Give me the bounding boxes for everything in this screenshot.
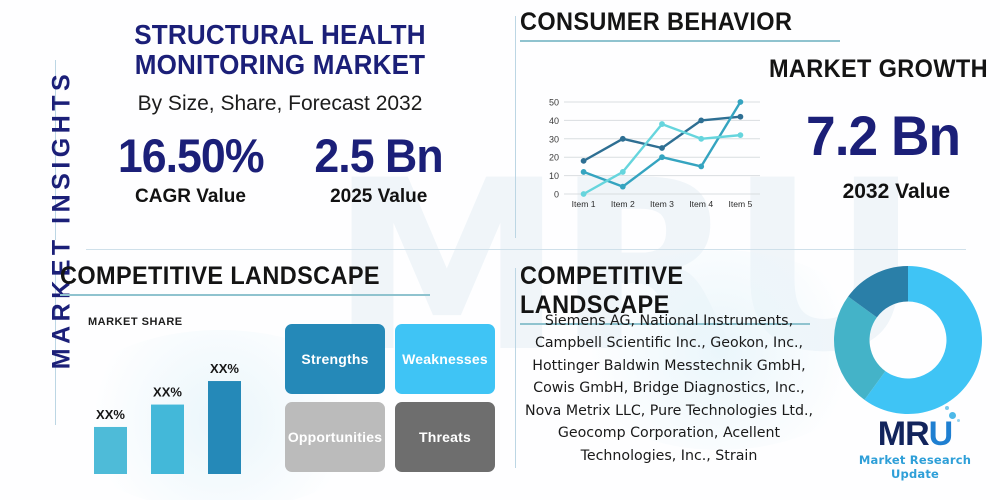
svg-text:XX%: XX% [153,385,182,400]
svg-text:Item 3: Item 3 [650,199,674,209]
logo-tagline: Market Research Update [845,453,985,481]
stat-2025-value: 2.5 Bn [315,132,443,179]
swot-label-threats: Threats [419,429,471,445]
bar-chart-svg: XX%XX%XX% [72,322,292,482]
svg-text:0: 0 [554,190,559,200]
svg-text:Item 4: Item 4 [689,199,713,209]
svg-text:XX%: XX% [96,407,125,422]
stat-2025: 2.5 Bn 2025 Value [311,132,446,208]
stat-cagr-value: 16.50% [118,132,264,179]
share-donut-chart [832,264,984,416]
consumer-behavior-panel: CONSUMER BEHAVIOR MARKET GROWTH 7.2 Bn 2… [520,8,990,240]
consumer-behavior-heading: CONSUMER BEHAVIOR [520,8,792,37]
swot-box-strengths[interactable]: Strengths [285,324,385,394]
logo-bubble-3 [957,419,960,422]
divider-vertical-mid-bottom [515,268,516,468]
line-chart-svg: 01020304050Item 1Item 2Item 3Item 4Item … [538,94,763,222]
page-subtitle: By Size, Share, Forecast 2032 [60,92,500,116]
competitive-left-heading: COMPETITIVE LANDSCAPE [60,262,380,291]
swot-box-opportunities[interactable]: Opportunities [285,402,385,472]
divider-vertical-mid-top [515,16,516,238]
mru-logo: MRU Market Research Update [845,417,985,481]
competitive-landscape-right-panel: COMPETITIVE LANDSCAPE Siemens AG, Nation… [520,262,990,494]
stat-2025-label: 2025 Value [311,186,446,208]
swot-label-weaknesses: Weaknesses [402,351,488,367]
svg-text:50: 50 [549,98,559,108]
logo-mark-light: U [929,415,953,453]
svg-text:Item 2: Item 2 [611,199,635,209]
logo-mark-dark: MR [878,415,929,453]
swot-label-opportunities: Opportunities [288,429,382,445]
svg-text:20: 20 [549,153,559,163]
market-share-bar-chart: XX%XX%XX% [72,322,292,482]
divider-horizontal-main [86,249,966,250]
swot-box-threats[interactable]: Threats [395,402,495,472]
swot-label-strengths: Strengths [301,351,368,367]
market-growth-value: 7.2 Bn [806,108,960,164]
market-growth-label: 2032 Value [843,180,950,204]
svg-text:40: 40 [549,116,559,126]
company-list: Siemens AG, National Instruments, Campbe… [524,310,814,467]
consumer-behavior-line-chart: 01020304050Item 1Item 2Item 3Item 4Item … [538,94,763,222]
infographic-canvas: MRU MARKET INSIGHTS STRUCTURAL HEALTH MO… [0,0,1000,500]
svg-text:Item 1: Item 1 [572,199,596,209]
svg-text:30: 30 [549,134,559,144]
logo-bubble-1 [949,412,956,419]
title-panel: STRUCTURAL HEALTH MONITORING MARKET By S… [60,8,500,240]
svg-text:10: 10 [549,171,559,181]
market-growth-title: MARKET GROWTH [769,55,988,84]
svg-text:XX%: XX% [210,361,239,376]
stat-cagr-label: CAGR Value [114,186,267,208]
consumer-behavior-underline [520,40,840,42]
donut-chart-svg [832,264,984,416]
page-title: STRUCTURAL HEALTH MONITORING MARKET [75,20,484,80]
swot-box-weaknesses[interactable]: Weaknesses [395,324,495,394]
logo-wordmark: MRU [878,417,952,451]
competitive-landscape-left-panel: COMPETITIVE LANDSCAPE MARKET SHARE XX%XX… [60,262,500,492]
swot-grid: Strengths Weaknesses Opportunities Threa… [285,324,495,472]
stat-cagr: 16.50% CAGR Value [114,132,267,208]
headline-stats: 16.50% CAGR Value 2.5 Bn 2025 Value [60,132,500,208]
competitive-left-underline [60,294,430,296]
svg-text:Item 5: Item 5 [728,199,752,209]
